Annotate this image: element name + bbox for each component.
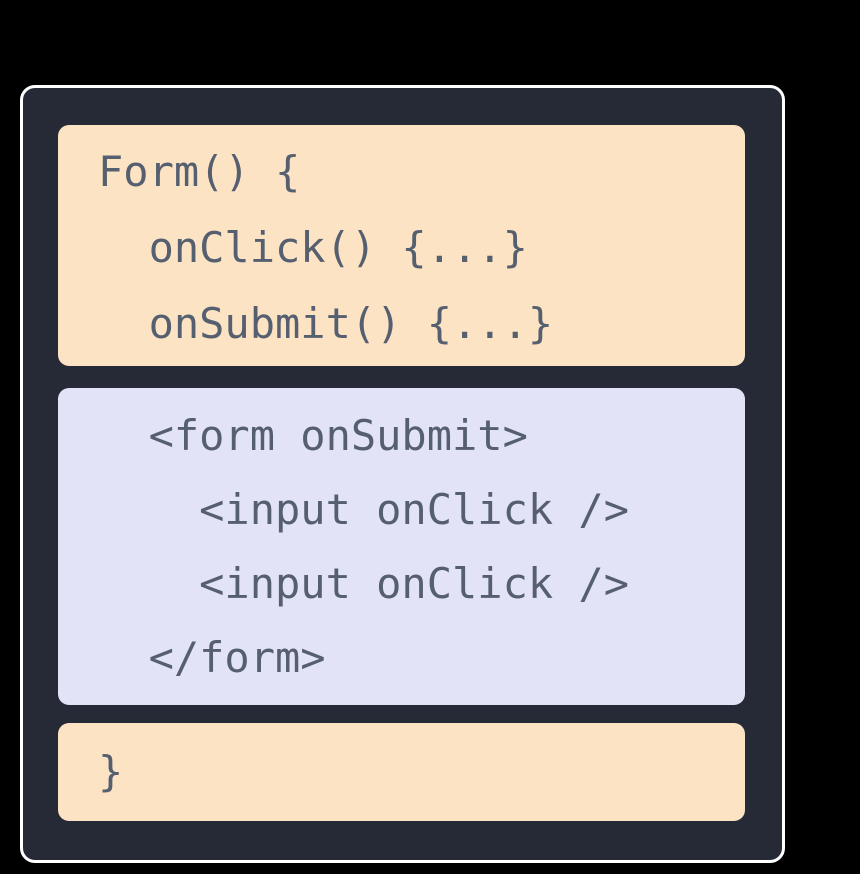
code-block-markup: <form onSubmit> <input onClick /> <input… — [58, 388, 745, 705]
code-line: <input onClick /> — [58, 547, 745, 621]
code-block-component-open: Form() { onClick() {...} onSubmit() {...… — [58, 125, 745, 366]
code-block-component-close: } — [58, 723, 745, 821]
code-line: onSubmit() {...} — [58, 286, 745, 362]
code-line: <input onClick /> — [58, 473, 745, 547]
code-line: onClick() {...} — [58, 210, 745, 286]
code-line: <form onSubmit> — [58, 399, 745, 473]
code-line: </form> — [58, 621, 745, 695]
code-line: } — [58, 740, 745, 804]
code-line: Form() { — [58, 134, 745, 210]
diagram-canvas: Form() { onClick() {...} onSubmit() {...… — [0, 0, 860, 874]
component-card: Form() { onClick() {...} onSubmit() {...… — [20, 85, 785, 863]
